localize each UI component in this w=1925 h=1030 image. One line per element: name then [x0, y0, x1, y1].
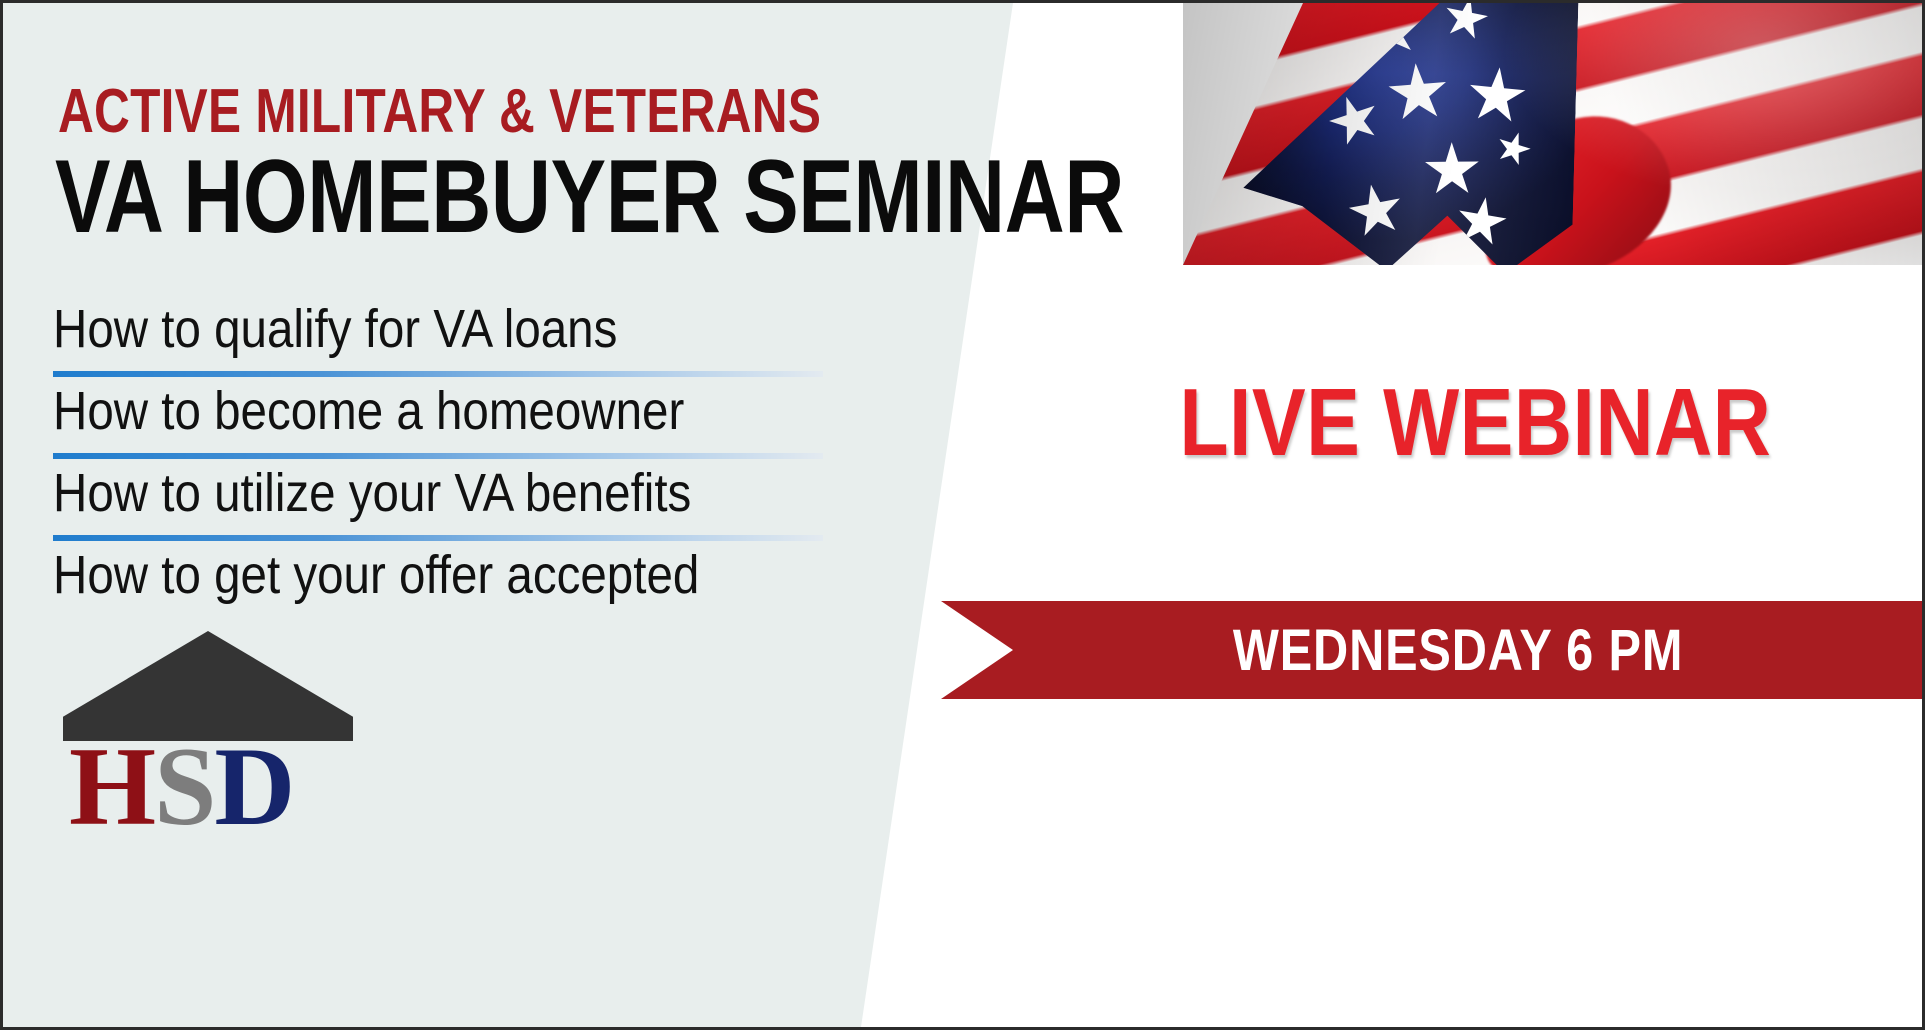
flag-shading-overlay	[1183, 3, 1925, 265]
list-item: How to utilize your VA benefits	[53, 459, 823, 541]
page-title: VA HOMEBUYER SEMINAR	[55, 145, 1124, 249]
list-item: How to qualify for VA loans	[53, 295, 823, 377]
logo-letter-h: H	[69, 725, 154, 849]
hsd-logo: HSD	[63, 631, 353, 831]
list-item-label: How to get your offer accepted	[53, 541, 731, 609]
list-item-label: How to utilize your VA benefits	[53, 459, 731, 527]
eyebrow-heading: ACTIVE MILITARY & VETERANS	[58, 81, 821, 143]
logo-letter-d: D	[214, 725, 293, 849]
live-webinar-heading: LIVE WEBINAR	[1023, 375, 1925, 471]
va-homebuyer-seminar-banner: ACTIVE MILITARY & VETERANS VA HOMEBUYER …	[0, 0, 1925, 1030]
schedule-ribbon-text: WEDNESDAY 6 PM	[941, 601, 1925, 699]
status-badge: WEDNESDAY 6 PM	[1233, 617, 1683, 684]
list-item: How to get your offer accepted	[53, 541, 823, 623]
list-item: How to become a homeowner	[53, 377, 823, 459]
american-flag-photo	[1183, 3, 1925, 265]
list-item-label: How to become a homeowner	[53, 377, 731, 445]
list-item-label: How to qualify for VA loans	[53, 295, 731, 363]
live-webinar-label: LIVE WEBINAR	[1180, 375, 1772, 471]
logo-letter-s: S	[154, 725, 214, 849]
benefits-list: How to qualify for VA loans How to becom…	[53, 295, 823, 623]
logo-wordmark: HSD	[69, 731, 293, 843]
